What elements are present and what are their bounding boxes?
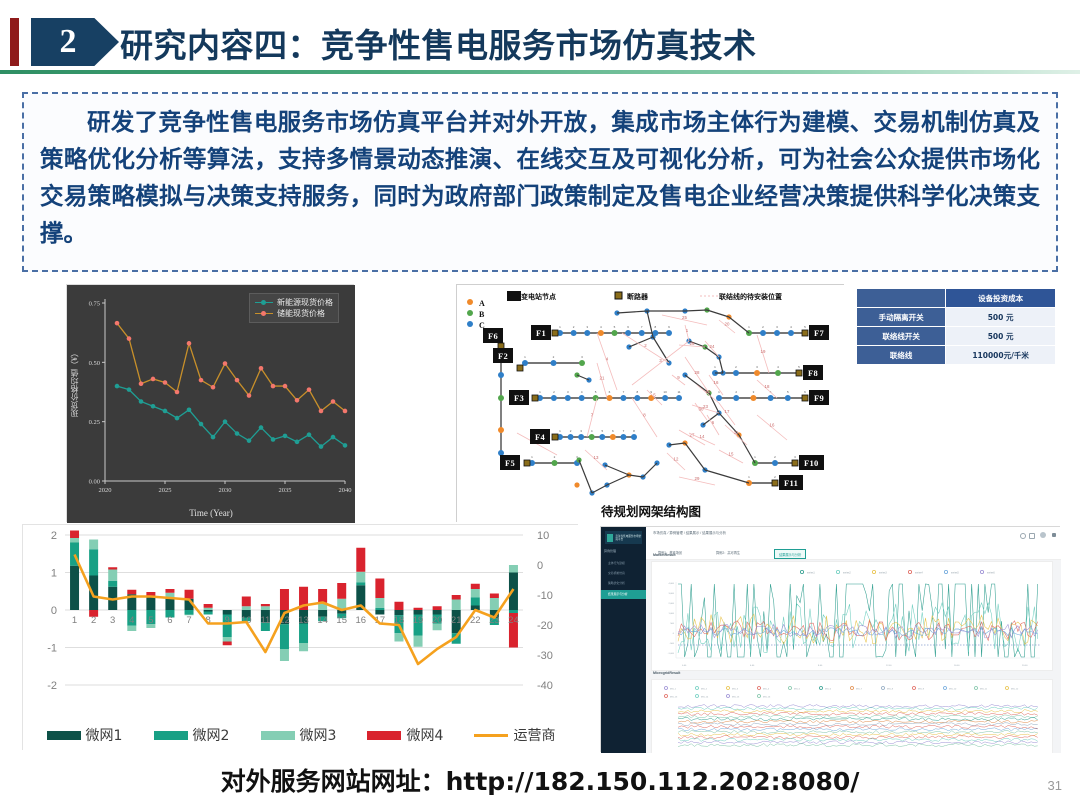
table-row-label-1: 联络线开关: [857, 327, 946, 346]
network-topology-diagram: 1234567891231234567891011123456781231234…: [456, 284, 844, 522]
legend-entry-mg2: 微网2: [154, 725, 230, 745]
table-row-label-2: 联络线: [857, 346, 946, 365]
tab-case-2[interactable]: 算例2：高可再生: [716, 550, 740, 555]
network-legend-node-a-label: A: [479, 299, 485, 308]
market-result-card: series1series2series3series4series5serie…: [651, 561, 1053, 671]
table-row-value-1: 500 元: [946, 327, 1056, 346]
svg-text:7: 7: [186, 615, 191, 626]
feeder-label-f2: F2: [493, 348, 513, 363]
dashboard-tab-strip: 算例1：基准场景 算例2：高可再生 结果展示与分析: [646, 548, 1061, 560]
legend-entry-storage: 储能现货价格: [255, 308, 333, 319]
svg-text:MG_11: MG_11: [980, 689, 988, 691]
feeder-label-f4: F4: [530, 429, 550, 444]
microgrid-profit-bar-chart: 210-1-2100-10-20-30-40123456789101112131…: [22, 524, 578, 750]
svg-text:6: 6: [167, 615, 172, 626]
svg-text:2025: 2025: [159, 487, 172, 494]
svg-text:-2: -2: [47, 680, 57, 692]
svg-text:series4: series4: [915, 572, 923, 575]
legend-swatch-mg2: [154, 731, 188, 740]
svg-text:-500: -500: [670, 643, 675, 645]
line-chart-x-axis-label: Time (Year): [67, 508, 355, 518]
dashboard-logo: 竞争性售电服务市场仿真平台: [605, 531, 642, 544]
feeder-label-f9: F9: [809, 390, 829, 405]
svg-text:series6: series6: [987, 572, 995, 575]
svg-text:14: 14: [700, 434, 705, 439]
svg-text:11: 11: [260, 615, 270, 626]
svg-text:13: 13: [594, 455, 599, 460]
gear-icon[interactable]: [1052, 533, 1056, 537]
svg-text:series2: series2: [843, 572, 851, 575]
network-legend-node-b-label: B: [479, 310, 484, 319]
dashboard-sidebar: 竞争性售电服务市场仿真平台 算例管理 主体行为建模 交易机制仿真 策略优化分析 …: [601, 527, 646, 753]
svg-text:16:00: 16:00: [954, 665, 960, 667]
svg-text:series5: series5: [951, 572, 959, 575]
svg-text:MG_5: MG_5: [794, 689, 801, 691]
slide-header: 2 研究内容四：竞争性售电服务市场仿真技术: [0, 14, 1080, 72]
svg-text:20: 20: [432, 615, 443, 626]
dashboard-topbar: 市场仿真 / 算例管理 / 结果展示 / 结果展示与分析: [646, 527, 1061, 549]
svg-text:MG_6: MG_6: [825, 689, 832, 691]
svg-text:0.00: 0.00: [89, 479, 100, 486]
sidebar-item-1[interactable]: 交易机制仿真: [608, 571, 644, 575]
legend-label-storage: 储能现货价格: [277, 308, 325, 319]
line-chart-legend: 新能源现货价格 储能现货价格: [249, 293, 339, 323]
svg-text:MG_9: MG_9: [918, 689, 925, 691]
svg-text:20: 20: [725, 322, 730, 327]
svg-text:2035: 2035: [279, 487, 292, 494]
search-icon[interactable]: [1020, 533, 1026, 539]
svg-text:25: 25: [682, 315, 687, 320]
legend-label-newenergy: 新能源现货价格: [277, 297, 333, 308]
table-row-value-2: 110000元/千米: [946, 346, 1056, 365]
legend-label-mg1: 微网1: [86, 725, 123, 745]
legend-swatch-newenergy: [255, 302, 273, 304]
svg-text:4: 4: [129, 615, 134, 626]
svg-text:0: 0: [51, 605, 57, 617]
svg-text:10: 10: [537, 530, 549, 542]
svg-text:24: 24: [710, 344, 715, 349]
svg-text:19: 19: [761, 349, 766, 354]
bar-chart-canvas: 210-1-2100-10-20-30-40123456789101112131…: [23, 525, 579, 751]
svg-text:3: 3: [110, 615, 115, 626]
svg-text:2020: 2020: [99, 487, 112, 494]
svg-text:-30: -30: [537, 650, 553, 662]
svg-text:1: 1: [72, 615, 77, 626]
breadcrumb: 市场仿真 / 算例管理 / 结果展示 / 结果展示与分析: [653, 530, 726, 535]
svg-text:MG_15: MG_15: [732, 697, 740, 699]
svg-text:21: 21: [600, 376, 605, 381]
svg-text:19: 19: [413, 615, 424, 626]
svg-text:series3: series3: [879, 572, 887, 575]
sidebar-item-2[interactable]: 策略优化分析: [608, 581, 644, 585]
svg-text:2: 2: [51, 530, 57, 542]
microgrid-result-chart: MG_1MG_2MG_3MG_4MG_5MG_6MG_7MG_8MG_9MG_1…: [652, 680, 1052, 753]
table-row-label-0: 手动隔离开关: [857, 308, 946, 327]
svg-text:0.25: 0.25: [89, 419, 100, 426]
svg-text:4,000: 4,000: [669, 583, 675, 585]
table-header-row: 设备投资成本: [857, 289, 1056, 308]
svg-text:-10: -10: [537, 590, 553, 602]
legend-entry-mg1: 微网1: [47, 725, 123, 745]
svg-text:MG_2: MG_2: [701, 689, 708, 691]
cost-table: 设备投资成本 手动隔离开关 500 元 联络线开关 500 元 联络线 1100…: [856, 288, 1056, 365]
legend-swatch-mg1: [47, 731, 81, 740]
svg-text:13: 13: [298, 615, 309, 626]
microgrid-result-card: MG_1MG_2MG_3MG_4MG_5MG_6MG_7MG_8MG_9MG_1…: [651, 679, 1053, 753]
svg-text:23: 23: [703, 404, 708, 409]
svg-text:0: 0: [537, 560, 543, 572]
svg-text:24: 24: [508, 615, 519, 626]
svg-text:-1: -1: [47, 643, 57, 655]
sidebar-section-header: 算例管理: [604, 549, 644, 553]
svg-text:series1: series1: [807, 572, 815, 575]
footer-url: 对外服务网站网址：http://182.150.112.202:8080/: [0, 762, 1080, 798]
microgrid-result-title: MicrogridResult: [653, 671, 680, 675]
table-row-value-0: 500 元: [946, 308, 1056, 327]
svg-text:MG_12: MG_12: [1011, 689, 1019, 691]
table-col-header: 设备投资成本: [946, 289, 1056, 308]
feeder-label-f8: F8: [803, 365, 823, 380]
avatar[interactable]: [1040, 532, 1046, 538]
legend-label-operator: 运营商: [513, 725, 555, 745]
legend-label-mg3: 微网3: [300, 725, 337, 745]
svg-text:MG_3: MG_3: [732, 689, 739, 691]
feeder-label-f3: F3: [509, 390, 529, 405]
table-corner-cell: [857, 289, 946, 308]
grid-icon[interactable]: [1029, 533, 1035, 539]
svg-text:3,000: 3,000: [669, 593, 675, 595]
svg-text:MG_1: MG_1: [670, 689, 677, 691]
svg-text:16: 16: [770, 423, 775, 428]
legend-swatch-mg3: [261, 731, 295, 740]
svg-text:16: 16: [356, 615, 367, 626]
sidebar-item-3[interactable]: 结果展示与分析: [608, 592, 644, 596]
svg-text:-1,000: -1,000: [668, 653, 675, 655]
svg-text:2: 2: [91, 615, 96, 626]
feeder-label-f6: F6: [483, 328, 503, 343]
line-chart-y-axis-label: 现货价格均值（¥）: [69, 349, 80, 417]
feeder-label-f7: F7: [809, 325, 829, 340]
page-number: 31: [1048, 778, 1062, 793]
svg-text:10: 10: [706, 389, 711, 394]
legend-swatch-mg4: [367, 731, 401, 740]
svg-text:5: 5: [148, 615, 153, 626]
equipment-cost-table: 设备投资成本 手动隔离开关 500 元 联络线开关 500 元 联络线 1100…: [856, 288, 1056, 370]
svg-text:12: 12: [674, 457, 679, 462]
legend-entry-newenergy: 新能源现货价格: [255, 297, 333, 308]
legend-swatch-storage: [255, 313, 273, 315]
svg-text:MG_13: MG_13: [670, 697, 678, 699]
svg-text:14: 14: [317, 615, 328, 626]
market-result-title: MarketResult: [653, 553, 676, 557]
svg-text:0.75: 0.75: [89, 301, 100, 308]
market-result-chart: series1series2series3series4series5serie…: [652, 562, 1052, 670]
table-row: 联络线开关 500 元: [857, 327, 1056, 346]
svg-text:15: 15: [729, 452, 734, 457]
svg-text:29: 29: [695, 476, 700, 481]
table-row: 手动隔离开关 500 元: [857, 308, 1056, 327]
svg-text:-20: -20: [537, 620, 553, 632]
svg-text:MG_10: MG_10: [949, 689, 957, 691]
svg-text:10: 10: [663, 390, 667, 394]
svg-text:21: 21: [451, 615, 462, 626]
summary-paragraph: 研发了竞争性售电服务市场仿真平台并对外开放，集成市场主体行为建模、交易机制仿真及…: [40, 104, 1040, 252]
network-legend-tieline-label: 联结线的待安装位置: [719, 292, 782, 302]
svg-text:20:00: 20:00: [1022, 665, 1028, 667]
svg-text:2,000: 2,000: [669, 603, 675, 605]
tab-results[interactable]: 结果展示与分析: [774, 549, 806, 559]
svg-text:11: 11: [677, 390, 680, 394]
svg-text:17: 17: [725, 409, 730, 414]
svg-text:2040: 2040: [339, 487, 352, 494]
svg-text:11: 11: [734, 430, 739, 435]
footer-url-text: 对外服务网站网址：http://182.150.112.202:8080/: [221, 767, 860, 796]
legend-label-mg2: 微网2: [193, 725, 230, 745]
svg-text:-40: -40: [537, 680, 553, 692]
feeder-label-f1: F1: [531, 325, 551, 340]
svg-text:MG_14: MG_14: [701, 697, 709, 699]
network-legend-breaker-label: 断路器: [627, 292, 648, 302]
svg-text:30: 30: [699, 407, 704, 412]
spot-price-line-chart: 0.000.250.500.7520202025203020352040 现货价…: [66, 284, 354, 522]
header-divider-rule: [0, 70, 1080, 74]
legend-swatch-operator: [474, 734, 508, 737]
table-row: 联络线 110000元/千米: [857, 346, 1056, 365]
svg-text:16: 16: [714, 380, 719, 385]
svg-text:1,000: 1,000: [669, 613, 675, 615]
legend-label-mg4: 微网4: [406, 725, 443, 745]
svg-text:MG_8: MG_8: [887, 689, 894, 691]
network-diagram-caption: 待规划网架结构图: [457, 501, 845, 520]
svg-text:MG_16: MG_16: [763, 697, 771, 699]
logo-mark-icon: [607, 534, 613, 542]
dashboard-logo-text: 竞争性售电服务市场仿真平台: [615, 535, 642, 541]
legend-entry-mg4: 微网4: [367, 725, 443, 745]
svg-text:28: 28: [695, 370, 700, 375]
svg-text:18: 18: [765, 384, 770, 389]
network-legend-substation-label: 变电站节点: [521, 292, 556, 302]
feeder-label-f11: F11: [779, 475, 803, 490]
dashboard-window: 竞争性售电服务市场仿真平台 算例管理 主体行为建模 交易机制仿真 策略优化分析 …: [601, 527, 1061, 753]
legend-entry-operator: 运营商: [474, 725, 555, 745]
svg-text:1: 1: [51, 568, 57, 580]
summary-textbox: 研发了竞争性售电服务市场仿真平台并对外开放，集成市场主体行为建模、交易机制仿真及…: [22, 92, 1058, 272]
svg-text:26: 26: [690, 341, 695, 346]
page-title: 研究内容四：竞争性售电服务市场仿真技术: [120, 18, 757, 68]
feeder-label-f5: F5: [500, 455, 520, 470]
bar-chart-legend: 微网1 微网2 微网3 微网4 运营商: [31, 725, 571, 745]
svg-text:12:00: 12:00: [886, 665, 892, 667]
svg-text:15: 15: [336, 615, 347, 626]
svg-text:MG_4: MG_4: [763, 689, 770, 691]
legend-entry-mg3: 微网3: [261, 725, 337, 745]
svg-text:MG_7: MG_7: [856, 689, 863, 691]
feeder-label-f10: F10: [799, 455, 824, 470]
svg-text:0.50: 0.50: [89, 360, 100, 367]
simulation-platform-screenshot: 竞争性售电服务市场仿真平台 算例管理 主体行为建模 交易机制仿真 策略优化分析 …: [600, 526, 1060, 752]
svg-text:2030: 2030: [219, 487, 232, 494]
header-accent-bar: [10, 18, 19, 66]
sidebar-item-0[interactable]: 主体行为建模: [608, 561, 644, 565]
header-section-number: 2: [31, 18, 105, 66]
